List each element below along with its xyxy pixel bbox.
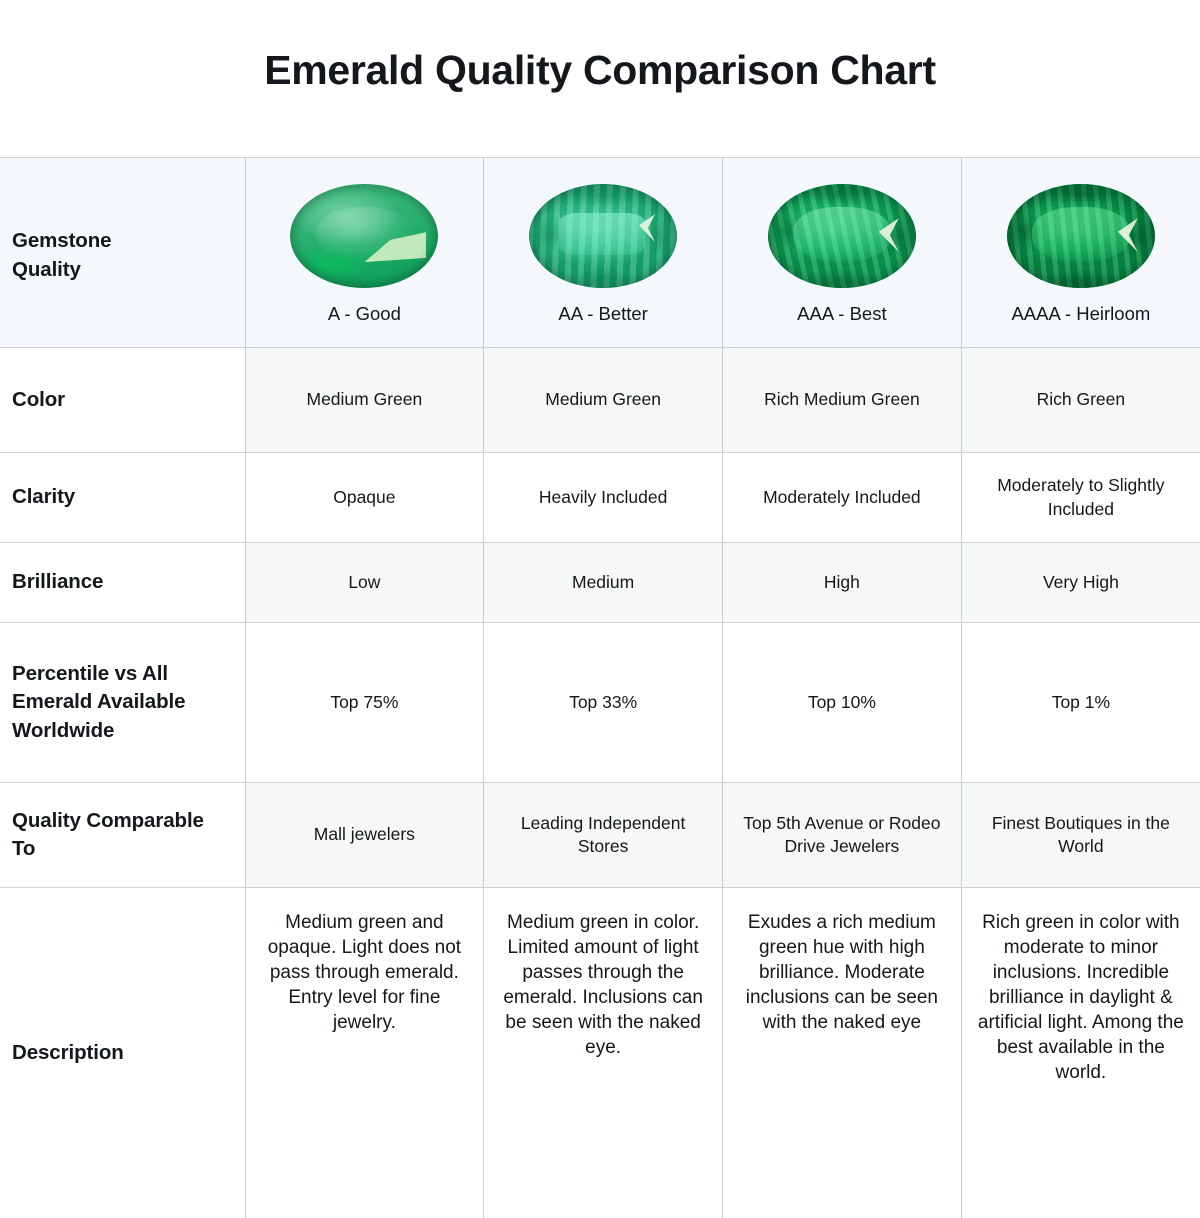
cell-clarity-aaa: Moderately Included [723, 453, 962, 543]
cell-color-aaaa: Rich Green [961, 348, 1200, 453]
row-label-clarity: Clarity [0, 453, 245, 543]
gem-cell-a: A - Good [258, 184, 472, 327]
cell-gemstone-quality-aa: AA - Better [484, 158, 723, 348]
cell-comparable-aaa: Top 5th Avenue or Rodeo Drive Jewelers [723, 783, 962, 888]
row-label-line-1: Gemstone [12, 229, 111, 252]
cell-clarity-aaaa: Moderately to Slightly Included [961, 453, 1200, 543]
table-row-color: Color Medium Green Medium Green Rich Med… [0, 348, 1200, 453]
cell-brilliance-aa: Medium [484, 543, 723, 623]
row-label-brilliance: Brilliance [0, 543, 245, 623]
emerald-oval-gem-aaaa-icon [1007, 184, 1155, 288]
table-row-description: Description Medium green and opaque. Lig… [0, 888, 1200, 1218]
gem-cell-aa: AA - Better [496, 184, 710, 327]
cell-percentile-aa: Top 33% [484, 623, 723, 783]
cell-brilliance-aaa: High [723, 543, 962, 623]
cell-clarity-aa: Heavily Included [484, 453, 723, 543]
gem-rim [768, 184, 916, 288]
emerald-oval-gem-aaa-icon [768, 184, 916, 288]
cell-description-a: Medium green and opaque. Light does not … [245, 888, 484, 1218]
gem-rim [529, 184, 677, 288]
cell-brilliance-aaaa: Very High [961, 543, 1200, 623]
cell-clarity-a: Opaque [245, 453, 484, 543]
gem-cell-aaaa: AAAA - Heirloom [974, 184, 1188, 327]
cell-color-aaa: Rich Medium Green [723, 348, 962, 453]
cell-brilliance-a: Low [245, 543, 484, 623]
table-row-quality-comparable-to: Quality Comparable To Mall jewelers Lead… [0, 783, 1200, 888]
row-label-quality-comparable-to: Quality Comparable To [0, 783, 245, 888]
row-label-description: Description [0, 888, 245, 1218]
gem-label-a: A - Good [328, 302, 401, 327]
gem-rim [1007, 184, 1155, 288]
cell-comparable-aa: Leading Independent Stores [484, 783, 723, 888]
cell-comparable-aaaa: Finest Boutiques in the World [961, 783, 1200, 888]
gem-cell-aaa: AAA - Best [735, 184, 949, 327]
row-label-color: Color [0, 348, 245, 453]
cell-color-a: Medium Green [245, 348, 484, 453]
table-row-brilliance: Brilliance Low Medium High Very High [0, 543, 1200, 623]
cell-percentile-aaa: Top 10% [723, 623, 962, 783]
cell-description-aaaa: Rich green in color with moderate to min… [961, 888, 1200, 1218]
gem-label-aaa: AAA - Best [797, 302, 886, 327]
gem-rim [290, 184, 438, 288]
comparison-table: Gemstone Quality A - Good [0, 157, 1200, 1218]
cell-color-aa: Medium Green [484, 348, 723, 453]
table-row-gemstone-quality: Gemstone Quality A - Good [0, 158, 1200, 348]
table-row-percentile: Percentile vs All Emerald Available Worl… [0, 623, 1200, 783]
cell-gemstone-quality-a: A - Good [245, 158, 484, 348]
cell-gemstone-quality-aaaa: AAAA - Heirloom [961, 158, 1200, 348]
emerald-quality-comparison-page: Emerald Quality Comparison Chart Gemston… [0, 0, 1200, 1200]
gem-label-aaaa: AAAA - Heirloom [1011, 302, 1150, 327]
cell-description-aaa: Exudes a rich medium green hue with high… [723, 888, 962, 1218]
cell-percentile-a: Top 75% [245, 623, 484, 783]
emerald-oval-gem-aa-icon [529, 184, 677, 288]
cell-percentile-aaaa: Top 1% [961, 623, 1200, 783]
cell-description-aa: Medium green in color. Limited amount of… [484, 888, 723, 1218]
row-label-line-2: Quality [12, 258, 81, 281]
page-title: Emerald Quality Comparison Chart [0, 0, 1200, 157]
cell-gemstone-quality-aaa: AAA - Best [723, 158, 962, 348]
gem-label-aa: AA - Better [558, 302, 647, 327]
row-label-percentile: Percentile vs All Emerald Available Worl… [0, 623, 245, 783]
emerald-oval-gem-a-icon [290, 184, 438, 288]
table-row-clarity: Clarity Opaque Heavily Included Moderate… [0, 453, 1200, 543]
row-label-gemstone-quality: Gemstone Quality [0, 158, 245, 348]
cell-comparable-a: Mall jewelers [245, 783, 484, 888]
